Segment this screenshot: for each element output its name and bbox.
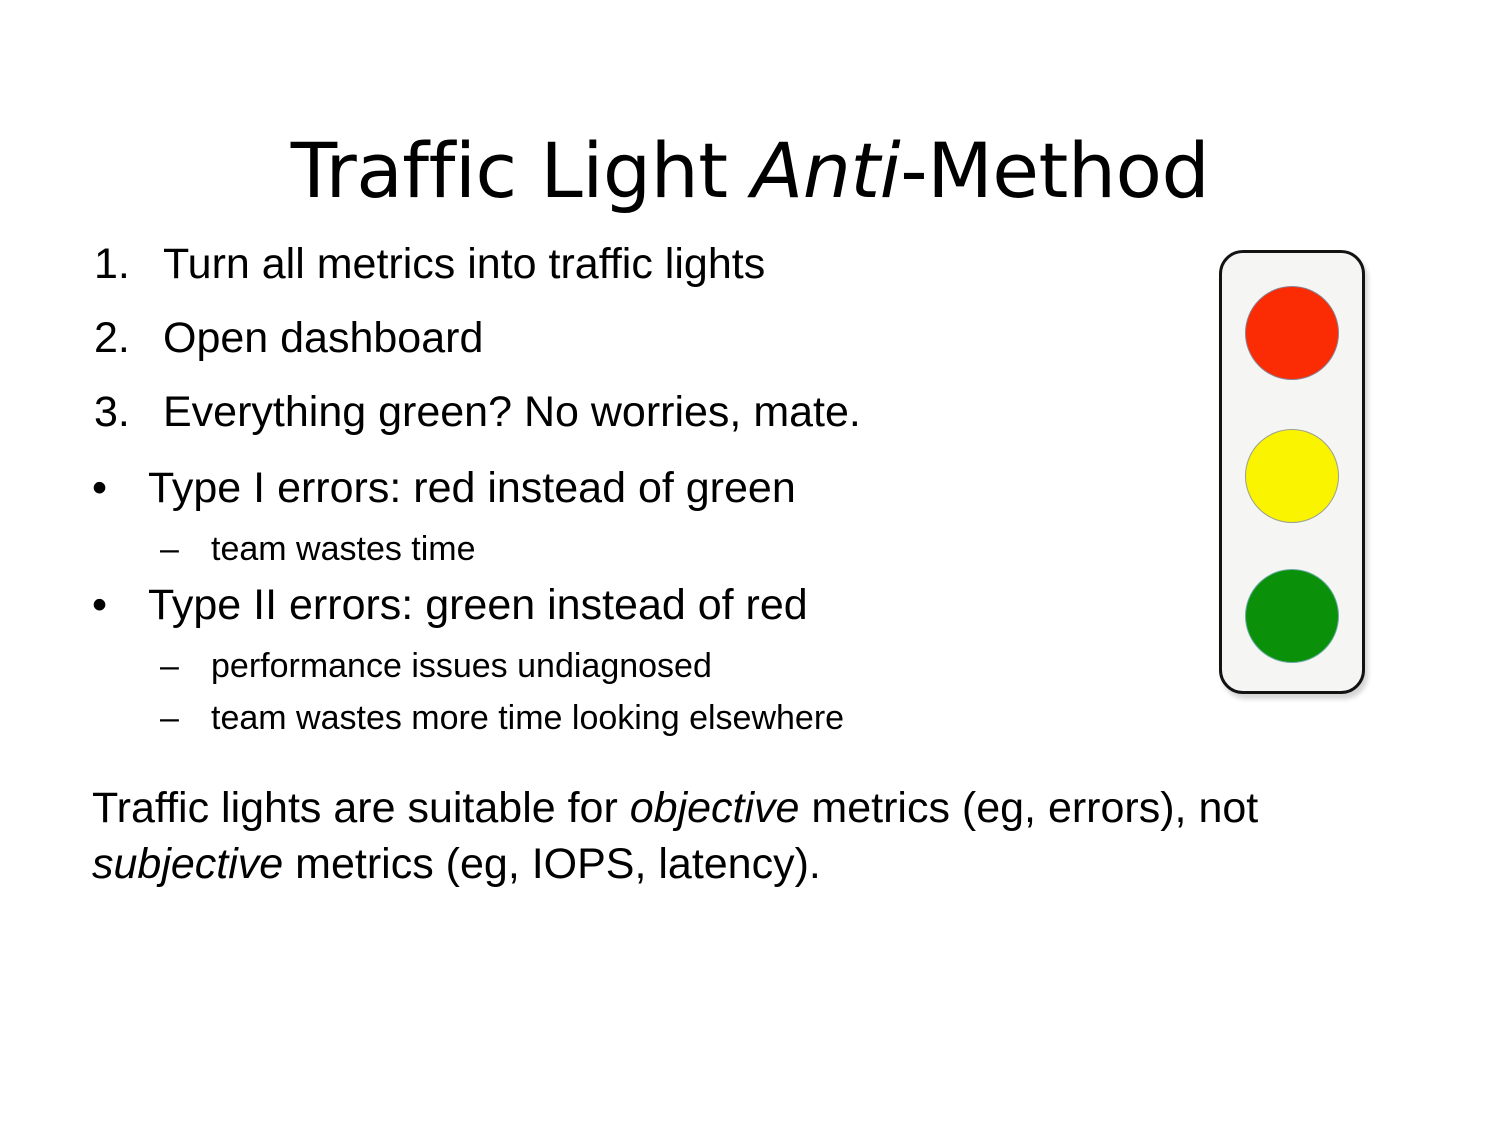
numbered-list-item: 1. Turn all metrics into traffic lights bbox=[92, 243, 1172, 286]
bullet-label: Type II errors: green instead of red bbox=[148, 581, 808, 629]
sub-bullet-marker-icon: – bbox=[160, 701, 179, 735]
list-item-label: Open dashboard bbox=[163, 314, 483, 362]
green-lamp bbox=[1245, 569, 1339, 663]
closing-part3: metrics (eg, IOPS, latency). bbox=[283, 840, 821, 888]
list-number: 3. bbox=[94, 391, 154, 434]
sub-bullet-label: team wastes more time looking elsewhere bbox=[211, 699, 844, 737]
closing-italic-subjective: subjective bbox=[92, 840, 283, 888]
sub-bullet-item: – team wastes time bbox=[92, 532, 1172, 566]
numbered-list-item: 3. Everything green? No worries, mate. bbox=[92, 391, 1172, 434]
list-item-label: Turn all metrics into traffic lights bbox=[163, 240, 765, 288]
bullet-item: • Type I errors: red instead of green bbox=[92, 467, 1172, 510]
numbered-list: 1. Turn all metrics into traffic lights … bbox=[92, 243, 1172, 434]
bullet-list: • Type I errors: red instead of green – … bbox=[92, 467, 1172, 735]
sub-bullet-marker-icon: – bbox=[160, 532, 179, 566]
bullet-marker-icon: • bbox=[92, 584, 107, 627]
list-number: 2. bbox=[94, 317, 154, 360]
sub-bullet-item: – team wastes more time looking elsewher… bbox=[92, 701, 1172, 735]
bullet-label: Type I errors: red instead of green bbox=[148, 464, 796, 512]
traffic-light-graphic bbox=[1219, 250, 1365, 694]
page-title-italic: Anti bbox=[751, 126, 900, 215]
page-title-part2: -Method bbox=[900, 126, 1209, 215]
closing-paragraph: Traffic lights are suitable for objectiv… bbox=[92, 781, 1392, 893]
sub-bullet-label: team wastes time bbox=[211, 530, 476, 568]
sub-bullet-item: – performance issues undiagnosed bbox=[92, 649, 1172, 683]
sub-bullet-label: performance issues undiagnosed bbox=[211, 647, 712, 685]
page-title: Traffic Light Anti-Method bbox=[0, 133, 1500, 209]
list-item-label: Everything green? No worries, mate. bbox=[163, 388, 861, 436]
closing-part2: metrics (eg, errors), not bbox=[799, 784, 1258, 832]
list-number: 1. bbox=[94, 243, 154, 286]
yellow-lamp bbox=[1245, 429, 1339, 523]
sub-bullet-marker-icon: – bbox=[160, 649, 179, 683]
slide-body: 1. Turn all metrics into traffic lights … bbox=[92, 243, 1172, 936]
numbered-list-item: 2. Open dashboard bbox=[92, 317, 1172, 360]
bullet-marker-icon: • bbox=[92, 467, 107, 510]
closing-part1: Traffic lights are suitable for bbox=[92, 784, 630, 832]
page-title-part1: Traffic Light bbox=[291, 126, 751, 215]
red-lamp bbox=[1245, 286, 1339, 380]
bullet-item: • Type II errors: green instead of red bbox=[92, 584, 1172, 627]
closing-italic-objective: objective bbox=[630, 784, 800, 832]
slide-canvas: Traffic Light Anti-Method 1. Turn all me… bbox=[0, 0, 1500, 1125]
